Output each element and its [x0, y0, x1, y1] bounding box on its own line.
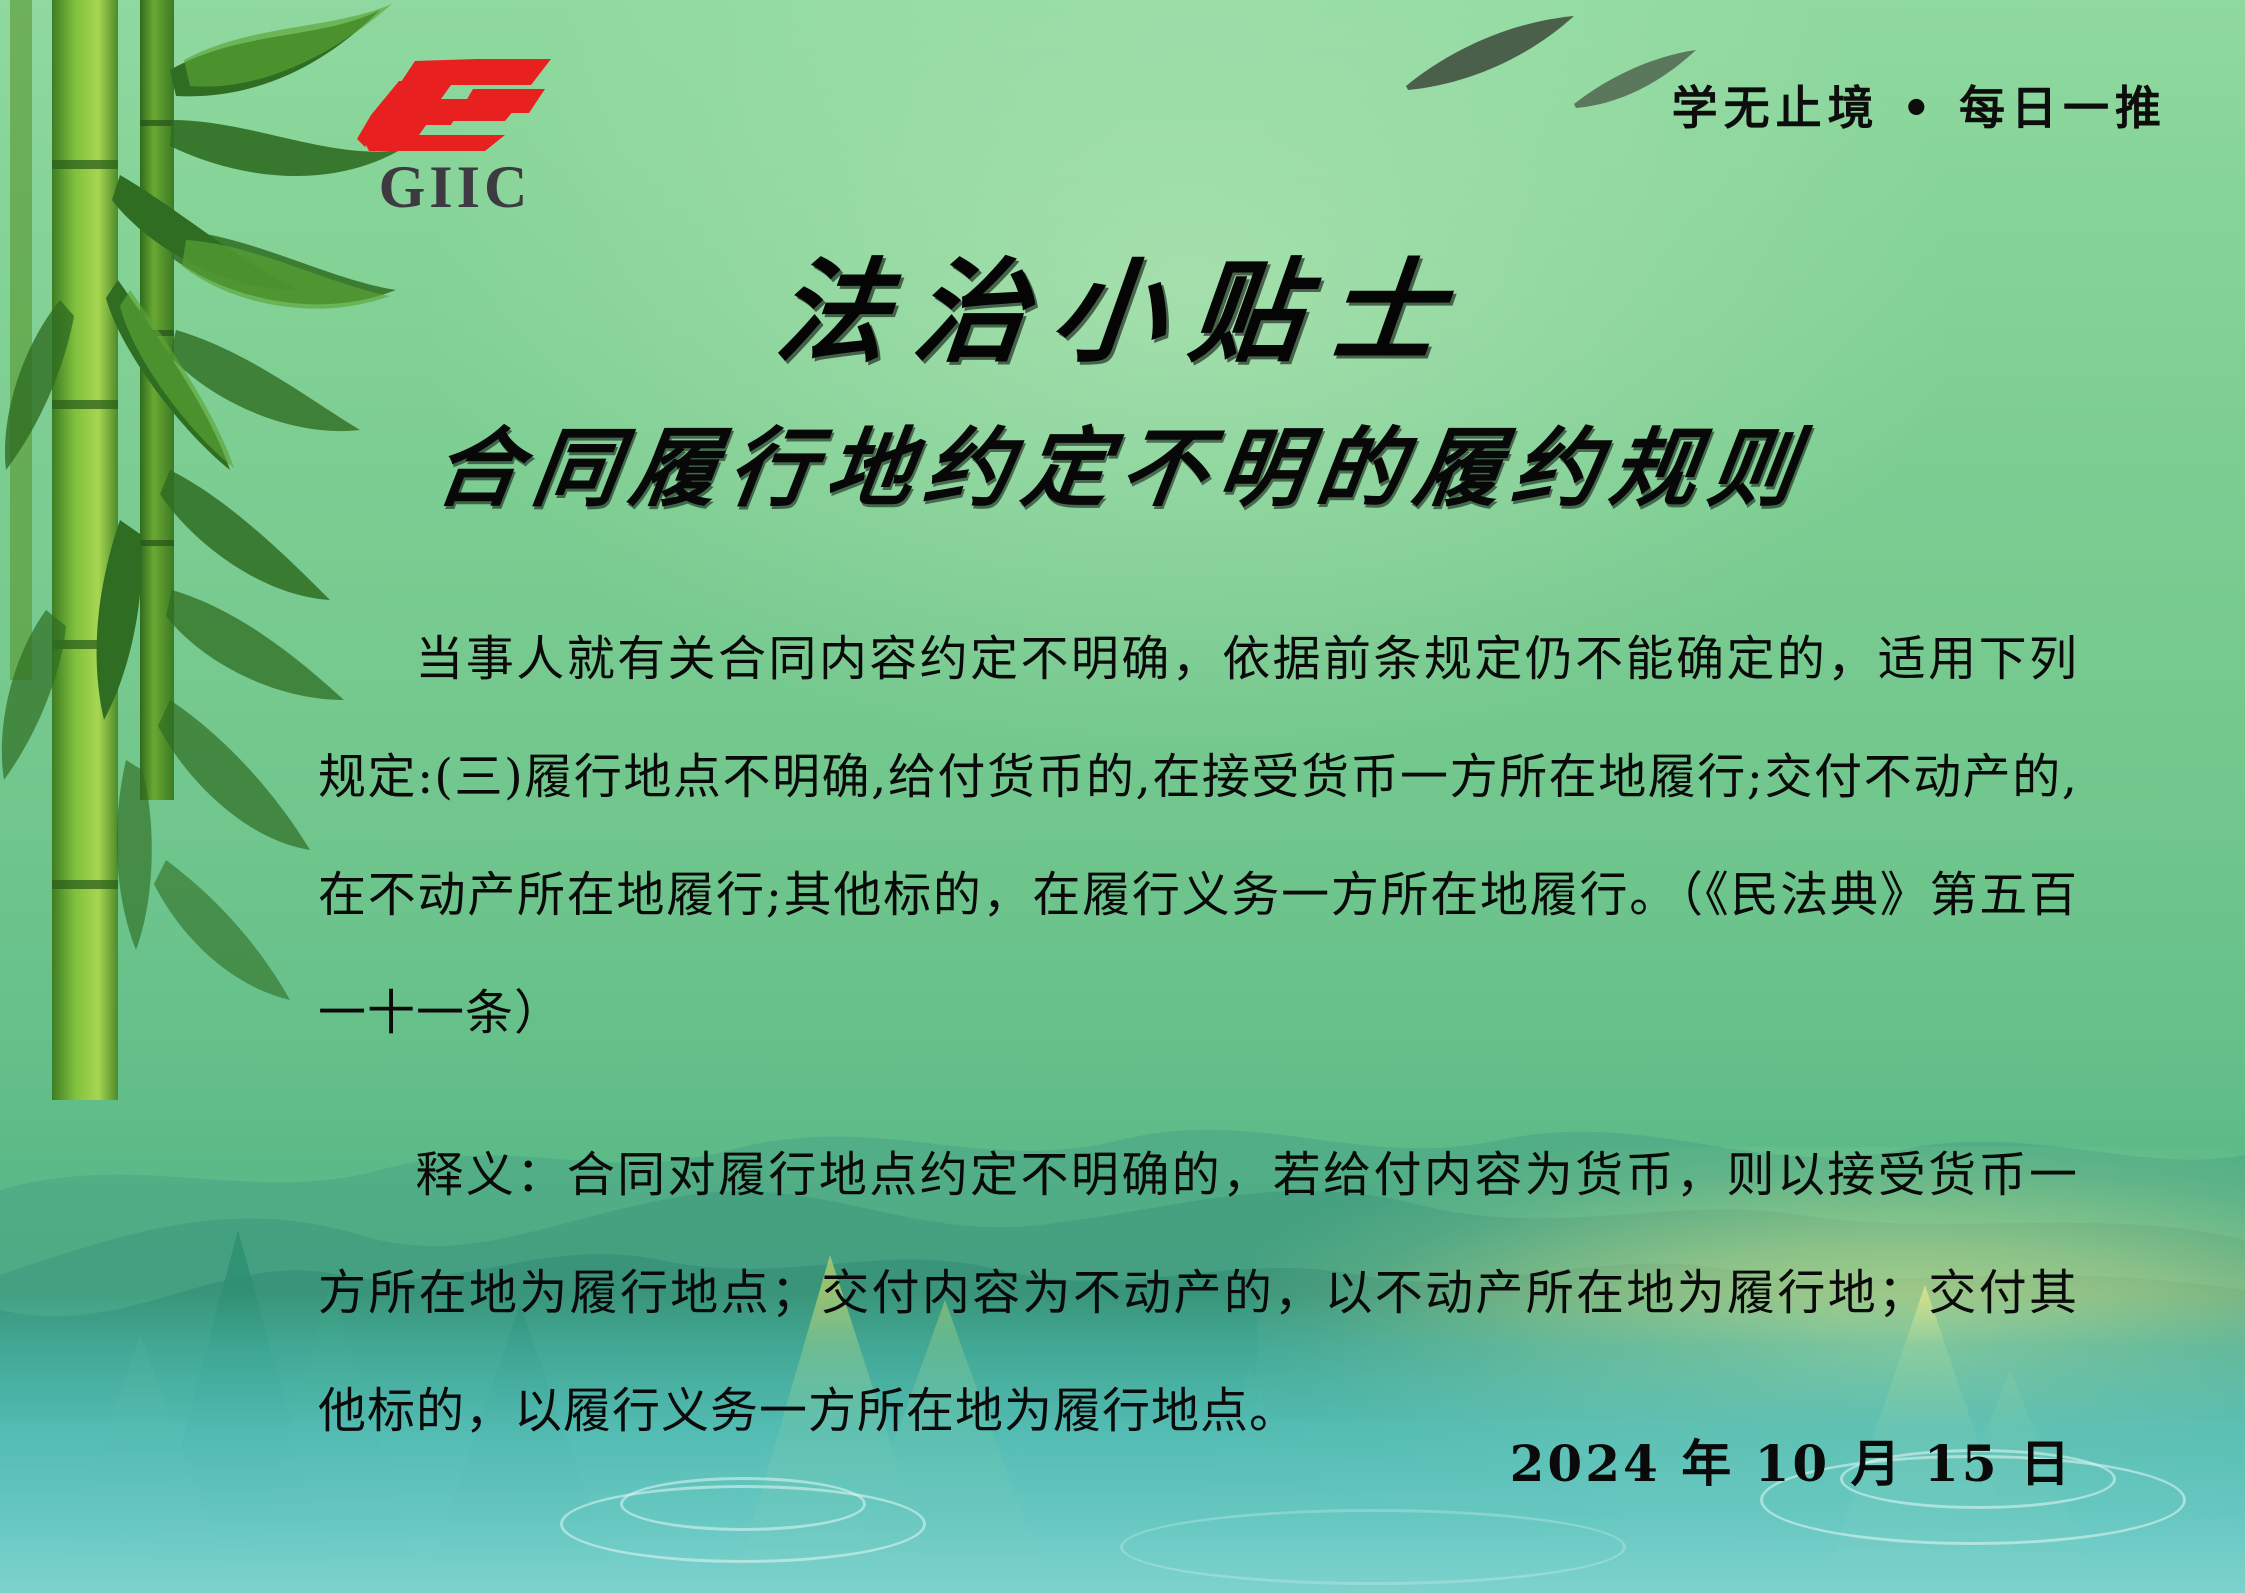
- brand-logo: GIIC: [340, 55, 570, 217]
- paragraph-2-content: 释义：合同对履行地点约定不明确的，若给付内容为货币，则以接受货币一方所在地为履行…: [318, 1147, 2078, 1439]
- paragraph-law-text: 当事人就有关合同内容约定不明确，依据前条规定仍不能确定的，适用下列规定:(三)履…: [318, 600, 2078, 1072]
- paragraph-explanation: 释义：合同对履行地点约定不明确的，若给付内容为货币，则以接受货币一方所在地为履行…: [318, 1116, 2078, 1470]
- paragraph-1-content: 当事人就有关合同内容约定不明确，依据前条规定仍不能确定的，适用下列规定:(三)履…: [318, 631, 2078, 1041]
- brand-logo-text: GIIC: [340, 157, 570, 217]
- poster-canvas: GIIC 学无止境 • 每日一推 法治小贴士 合同履行地约定不明的履约规则 当事…: [0, 0, 2245, 1593]
- giic-logo-mark-icon: [355, 55, 555, 151]
- poster-content: GIIC 学无止境 • 每日一推 法治小贴士 合同履行地约定不明的履约规则 当事…: [0, 0, 2245, 1593]
- tagline: 学无止境 • 每日一推: [1672, 72, 2167, 138]
- page-subtitle: 合同履行地约定不明的履约规则: [0, 398, 2245, 523]
- date-stamp: 2024 年 10 月 15 日: [1510, 1424, 2073, 1496]
- body-text: 当事人就有关合同内容约定不明确，依据前条规定仍不能确定的，适用下列规定:(三)履…: [318, 600, 2078, 1478]
- page-title: 法治小贴士: [0, 222, 2245, 384]
